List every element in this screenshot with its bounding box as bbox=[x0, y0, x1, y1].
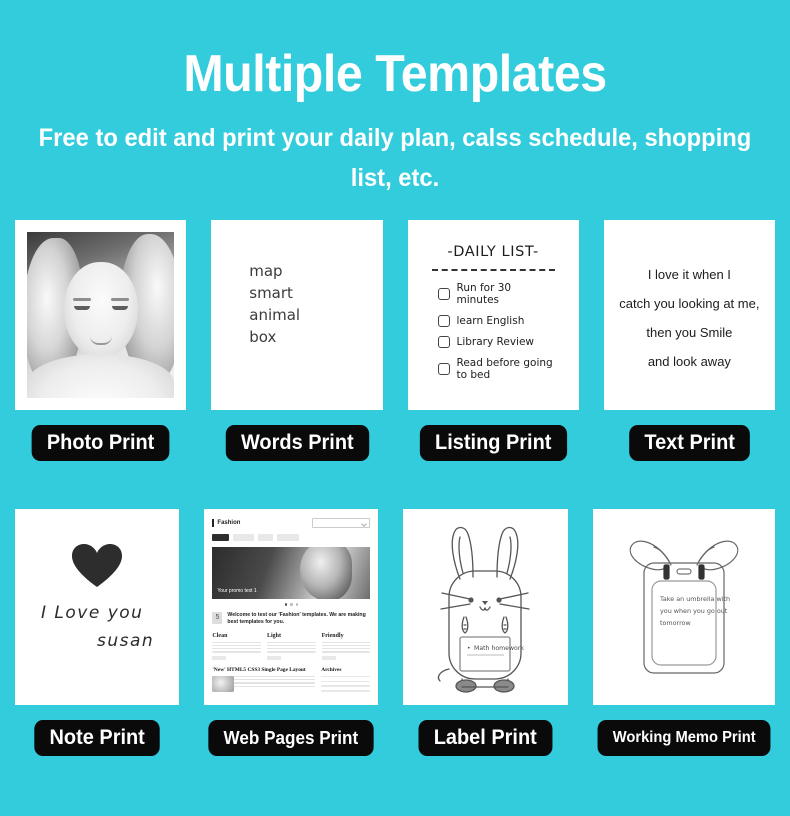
word-item: map bbox=[249, 260, 300, 282]
nav-item-our-template[interactable] bbox=[277, 534, 299, 541]
note-print-label[interactable]: Note Print bbox=[34, 720, 160, 756]
read-more-button[interactable] bbox=[322, 656, 336, 660]
working-memo-print-label[interactable]: Working Memo Print bbox=[597, 720, 770, 756]
words-print-card[interactable]: map smart animal box bbox=[211, 220, 382, 410]
nav-item-portfolio[interactable] bbox=[233, 534, 254, 541]
read-more-button[interactable] bbox=[267, 656, 281, 660]
rabbit-note-text: Math homework bbox=[474, 645, 524, 652]
note-line-1: I Love you bbox=[41, 603, 143, 623]
memo-badge-illustration: Take an umbrella with you when you go ou… bbox=[593, 509, 775, 705]
label-print-label[interactable]: Label Print bbox=[419, 720, 553, 756]
site-logo: Fashion bbox=[212, 519, 240, 527]
template-cell-words-print[interactable]: map smart animal box Words Print bbox=[211, 220, 382, 487]
read-more-button[interactable] bbox=[212, 656, 226, 660]
feature-column: Friendly bbox=[322, 633, 371, 660]
rabbit-note-bullet: • bbox=[467, 645, 471, 652]
hero-caption: Your promo text 1 bbox=[217, 588, 256, 594]
nav-item-home[interactable] bbox=[212, 534, 229, 541]
dashed-divider bbox=[432, 269, 555, 271]
archives-title: Archives bbox=[321, 667, 370, 673]
working-memo-print-card[interactable]: Take an umbrella with you when you go ou… bbox=[593, 509, 775, 705]
note-print-card[interactable]: I Love you susan bbox=[15, 509, 179, 705]
word-item: box bbox=[249, 326, 300, 348]
label-print-card[interactable]: • Math homework bbox=[403, 509, 567, 705]
listing-print-card[interactable]: -DAILY LIST- Run for 30 minutes learn En… bbox=[408, 220, 579, 410]
web-pages-print-card[interactable]: Fashion Your promo text 1 bbox=[204, 509, 378, 705]
list-item[interactable]: learn English bbox=[438, 315, 557, 327]
note-line-2: susan bbox=[97, 631, 154, 651]
list-item-label: Run for 30 minutes bbox=[457, 282, 557, 306]
listing-print-label[interactable]: Listing Print bbox=[420, 425, 567, 461]
template-cell-listing-print[interactable]: -DAILY LIST- Run for 30 minutes learn En… bbox=[408, 220, 579, 487]
article-block: 'New' HTML5 CSS3 Single Page Layout bbox=[212, 667, 315, 696]
template-cell-note-print[interactable]: I Love you susan Note Print bbox=[15, 509, 179, 782]
checkbox-icon[interactable] bbox=[438, 336, 450, 348]
daily-list-title: -DAILY LIST- bbox=[430, 244, 557, 260]
list-item[interactable]: Run for 30 minutes bbox=[438, 282, 557, 306]
words-print-label[interactable]: Words Print bbox=[225, 425, 368, 461]
list-item-label: Read before going to bed bbox=[457, 357, 557, 381]
quote-text: I love it when I catch you looking at me… bbox=[604, 260, 775, 376]
feature-column: Light bbox=[267, 633, 316, 660]
checkbox-icon[interactable] bbox=[438, 315, 450, 327]
list-item-label: learn English bbox=[457, 315, 525, 327]
hero-image: Your promo text 1 bbox=[212, 547, 370, 599]
templates-page: Multiple Templates Free to edit and prin… bbox=[0, 0, 790, 816]
site-logo-text: Fashion bbox=[217, 520, 240, 526]
template-cell-label-print[interactable]: • Math homework Label Print bbox=[403, 509, 567, 782]
website-mockup: Fashion Your promo text 1 bbox=[204, 509, 378, 705]
text-print-label[interactable]: Text Print bbox=[629, 425, 750, 461]
page-header: Multiple Templates Free to edit and prin… bbox=[0, 0, 790, 198]
memo-line-3: tomorrow bbox=[660, 619, 691, 627]
site-nav[interactable] bbox=[212, 534, 370, 541]
photo-print-card[interactable] bbox=[15, 220, 186, 410]
template-grid-row-1: Photo Print map smart animal box Words P… bbox=[0, 220, 790, 487]
daily-list: -DAILY LIST- Run for 30 minutes learn En… bbox=[408, 244, 579, 390]
feature-title: Clean bbox=[212, 633, 261, 639]
article-thumbnail bbox=[212, 676, 234, 692]
archives-block: Archives bbox=[321, 667, 370, 696]
template-cell-web-pages-print[interactable]: Fashion Your promo text 1 bbox=[204, 509, 378, 782]
memo-line-1: Take an umbrella with bbox=[659, 595, 730, 603]
template-cell-text-print[interactable]: I love it when I catch you looking at me… bbox=[604, 220, 775, 487]
memo-line-2: you when you go out bbox=[660, 607, 728, 615]
web-pages-print-label[interactable]: Web Pages Print bbox=[209, 720, 374, 756]
quote-line: I love it when I bbox=[616, 260, 763, 289]
list-item[interactable]: Library Review bbox=[438, 336, 557, 348]
nav-item-about[interactable] bbox=[258, 534, 273, 541]
checkbox-icon[interactable] bbox=[438, 363, 450, 375]
word-item: smart bbox=[249, 282, 300, 304]
quote-line: and look away bbox=[616, 347, 763, 376]
quote-line: catch you looking at me, bbox=[616, 289, 763, 318]
page-subtitle: Free to edit and print your daily plan, … bbox=[20, 118, 771, 198]
list-item-label: Library Review bbox=[457, 336, 535, 348]
article-title: 'New' HTML5 CSS3 Single Page Layout bbox=[212, 667, 315, 673]
welcome-text: Welcome to test our 'Fashion' templates.… bbox=[227, 612, 370, 626]
word-list: map smart animal box bbox=[249, 260, 300, 348]
heart-icon bbox=[70, 543, 124, 594]
feature-title: Friendly bbox=[322, 633, 371, 639]
text-print-card[interactable]: I love it when I catch you looking at me… bbox=[604, 220, 775, 410]
feature-column: Clean bbox=[212, 633, 261, 660]
portrait-photo bbox=[27, 232, 174, 398]
search-input[interactable] bbox=[312, 518, 370, 528]
list-item[interactable]: Read before going to bed bbox=[438, 357, 557, 381]
template-grid-row-2: I Love you susan Note Print Fashion bbox=[0, 509, 790, 782]
quote-line: then you Smile bbox=[616, 318, 763, 347]
carousel-dots[interactable] bbox=[212, 603, 370, 606]
photo-print-label[interactable]: Photo Print bbox=[32, 425, 170, 461]
rabbit-illustration: • Math homework bbox=[403, 509, 567, 705]
page-title: Multiple Templates bbox=[28, 44, 763, 104]
html5-badge-icon bbox=[212, 612, 222, 624]
checkbox-icon[interactable] bbox=[438, 288, 450, 300]
feature-title: Light bbox=[267, 633, 316, 639]
template-cell-photo-print[interactable]: Photo Print bbox=[15, 220, 186, 487]
word-item: animal bbox=[249, 304, 300, 326]
template-cell-working-memo-print[interactable]: Take an umbrella with you when you go ou… bbox=[593, 509, 775, 782]
